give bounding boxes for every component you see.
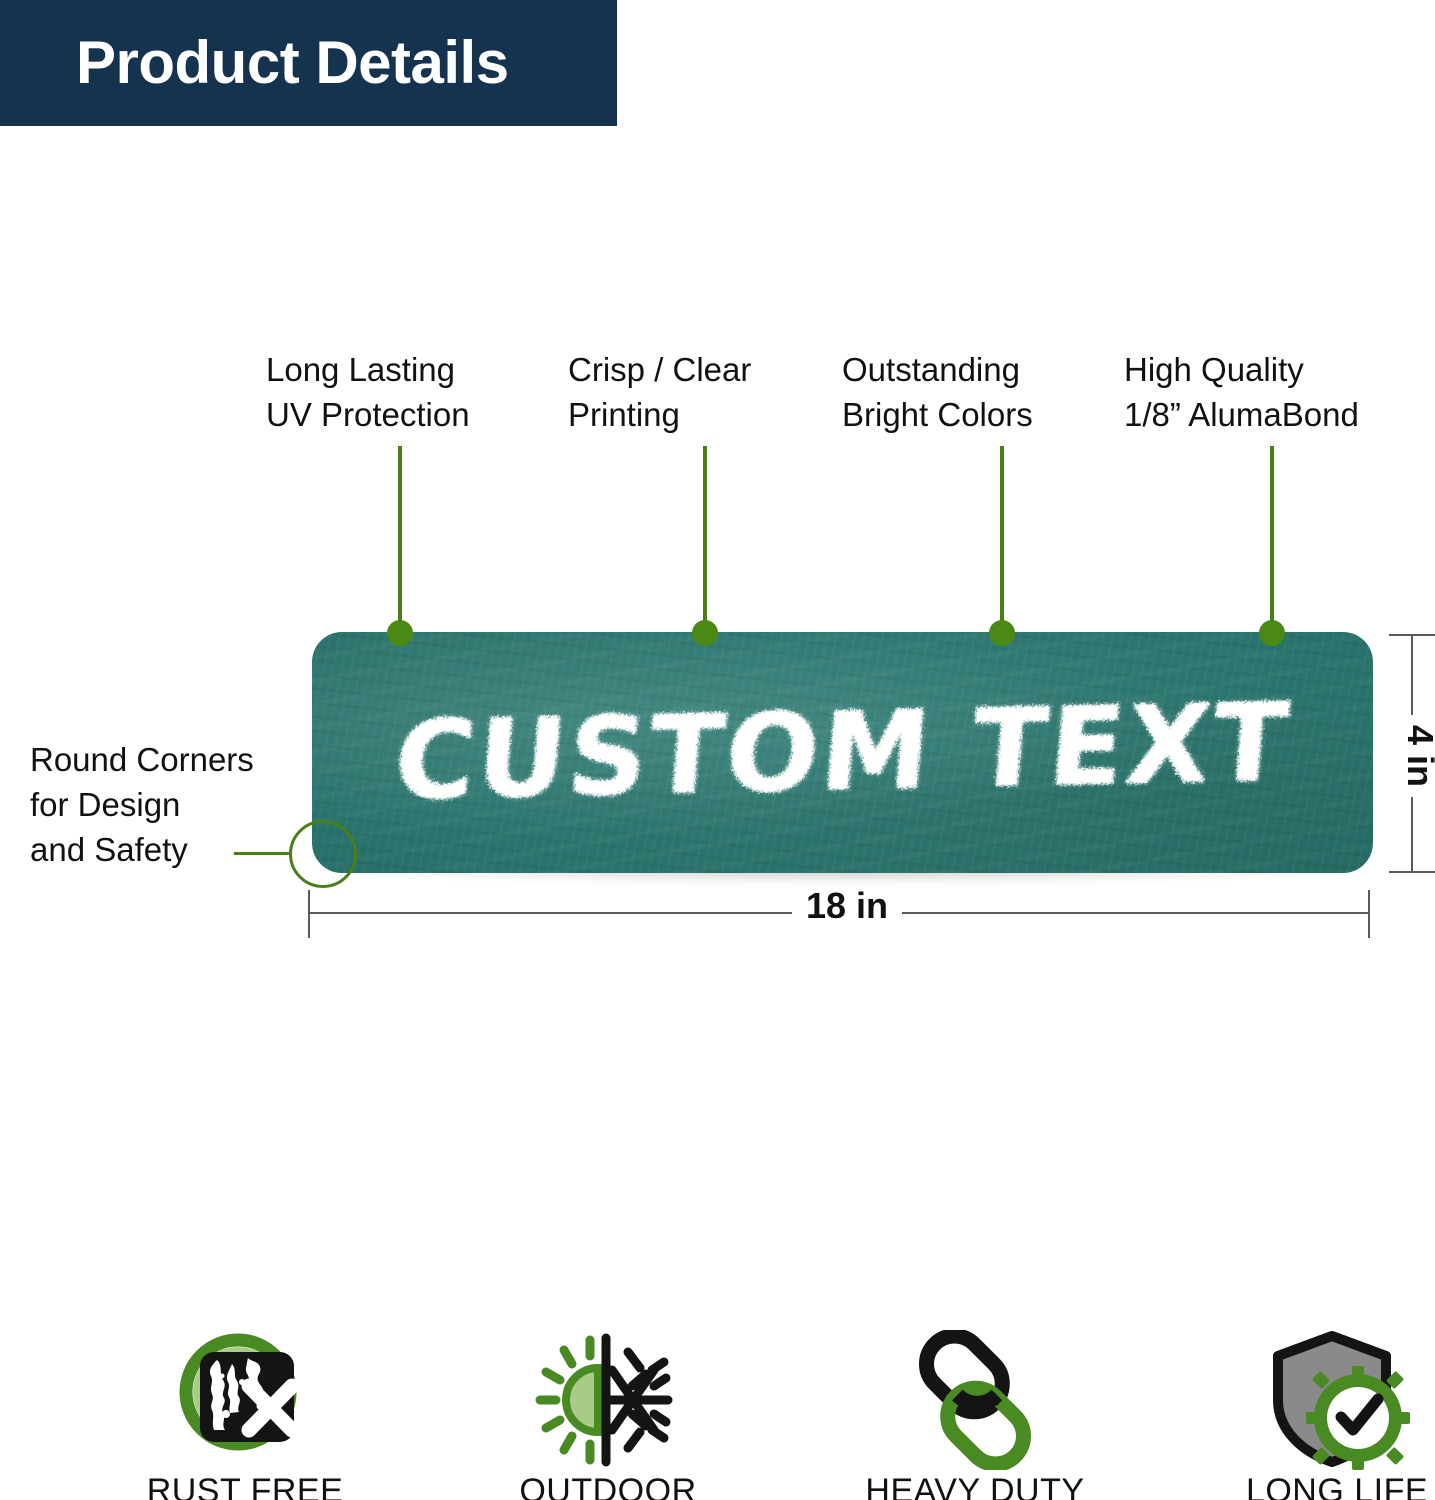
callout-round-corners-line3: and Safety xyxy=(30,828,254,873)
dim-label-height: 4 in xyxy=(1394,715,1435,797)
callout-alumabond: High Quality 1/8” AlumaBond xyxy=(1124,348,1359,438)
page-title: Product Details xyxy=(0,33,509,93)
leader-line-crisp-printing xyxy=(703,446,707,633)
leader-line-bright-colors xyxy=(1000,446,1004,633)
callout-bright-colors: Outstanding Bright Colors xyxy=(842,348,1033,438)
feature-label-rust-free: RUST FREE xyxy=(120,1472,370,1500)
callout-bright-colors-line2: Bright Colors xyxy=(842,393,1033,438)
leader-dot-bright-colors xyxy=(989,620,1015,646)
callout-round-corners-line1: Round Corners xyxy=(30,738,254,783)
feature-label-heavy-duty: HEAVY DUTY xyxy=(850,1472,1100,1500)
callout-uv-protection-line2: UV Protection xyxy=(266,393,470,438)
dim-tick-right xyxy=(1368,890,1370,938)
header-banner: Product Details xyxy=(0,0,617,126)
custom-sign-preview: CUSTOM TEXT xyxy=(312,632,1373,873)
leader-dot-uv-protection xyxy=(387,620,413,646)
feature-rust-free: RUST FREE xyxy=(120,1330,370,1500)
leader-dot-crisp-printing xyxy=(692,620,718,646)
feature-long-life: LONG LIFE xyxy=(1212,1330,1435,1500)
callout-crisp-printing-line1: Crisp / Clear xyxy=(568,348,751,393)
leader-dot-alumabond xyxy=(1259,620,1285,646)
product-details-infographic: Product Details Long Lasting UV Protecti… xyxy=(0,0,1435,1500)
leader-line-alumabond xyxy=(1270,446,1274,633)
sign-custom-text: CUSTOM TEXT xyxy=(312,632,1373,873)
sun-snowflake-icon xyxy=(483,1330,733,1470)
callout-uv-protection: Long Lasting UV Protection xyxy=(266,348,470,438)
leader-line-round-corners xyxy=(234,852,290,855)
feature-label-outdoor: OUTDOOR xyxy=(483,1472,733,1500)
leader-line-uv-protection xyxy=(398,446,402,633)
chain-link-icon xyxy=(850,1330,1100,1470)
feature-outdoor: OUTDOOR xyxy=(483,1330,733,1500)
shield-clock-icon xyxy=(1212,1330,1435,1470)
callout-bright-colors-line1: Outstanding xyxy=(842,348,1033,393)
callout-alumabond-line2: 1/8” AlumaBond xyxy=(1124,393,1359,438)
dim-tick-left xyxy=(308,890,310,938)
round-corner-highlight-circle xyxy=(289,820,357,888)
callout-round-corners: Round Corners for Design and Safety xyxy=(30,738,254,873)
feature-label-long-life: LONG LIFE xyxy=(1212,1472,1435,1500)
callout-uv-protection-line1: Long Lasting xyxy=(266,348,470,393)
feature-heavy-duty: HEAVY DUTY xyxy=(850,1330,1100,1500)
dim-label-width: 18 in xyxy=(792,888,902,924)
callout-crisp-printing-line2: Printing xyxy=(568,393,751,438)
callout-crisp-printing: Crisp / Clear Printing xyxy=(568,348,751,438)
rust-free-icon xyxy=(120,1330,370,1470)
callout-round-corners-line2: for Design xyxy=(30,783,254,828)
callout-alumabond-line1: High Quality xyxy=(1124,348,1359,393)
